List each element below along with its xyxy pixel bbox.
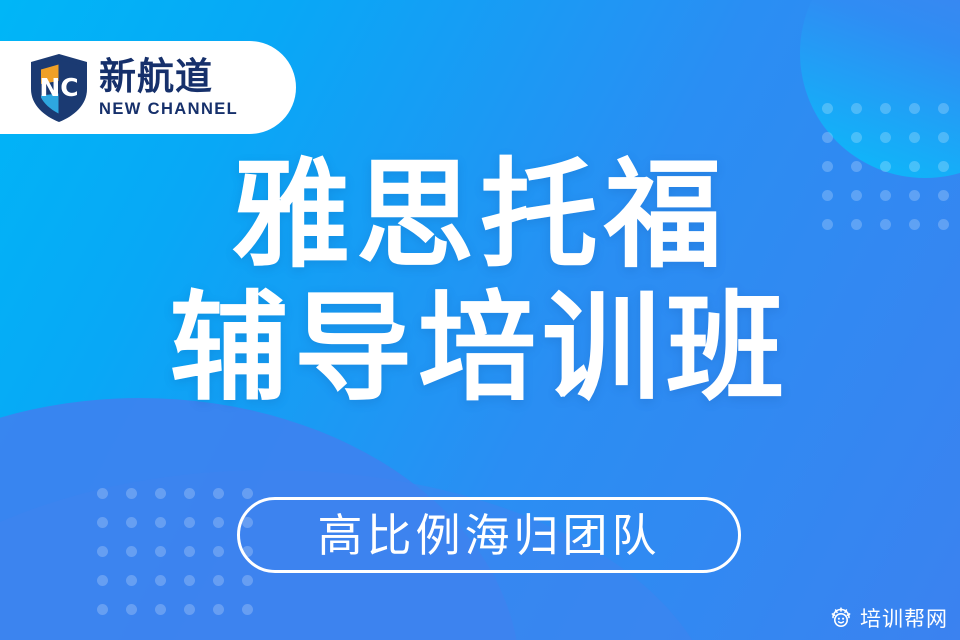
brand-logo-text: 新航道 NEW CHANNEL <box>99 58 238 118</box>
headline-line-2: 辅导培训班 <box>0 279 960 418</box>
promo-poster: NC 新航道 NEW CHANNEL 雅思托福 辅导培训班 高比例海归团队 <box>0 0 960 640</box>
headline-block: 雅思托福 辅导培训班 <box>0 146 960 418</box>
svg-text:NC: NC <box>39 73 78 102</box>
site-watermark: 培训帮网 <box>823 604 954 634</box>
brand-name-en: NEW CHANNEL <box>99 101 238 118</box>
subtitle-pill: 高比例海归团队 <box>237 497 741 573</box>
watermark-text: 培训帮网 <box>860 609 948 630</box>
dot-grid-bottom-left <box>97 488 253 615</box>
subtitle-text: 高比例海归团队 <box>317 513 660 558</box>
smiley-sun-face-icon <box>829 605 853 634</box>
brand-logo-pill: NC 新航道 NEW CHANNEL <box>0 41 296 134</box>
headline-line-1: 雅思托福 <box>0 146 960 285</box>
shield-logo-icon: NC <box>28 53 90 123</box>
brand-name-cn: 新航道 <box>99 58 238 95</box>
